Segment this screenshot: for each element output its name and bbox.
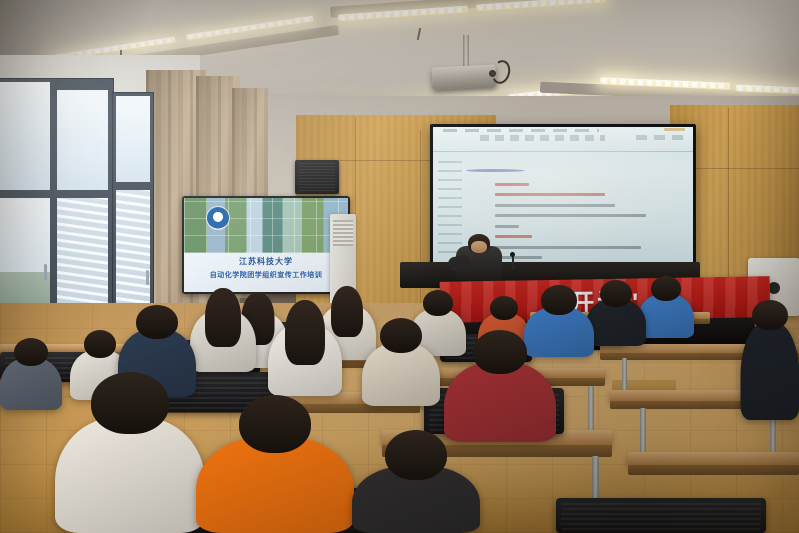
document-ribbon [433, 127, 693, 152]
audience-member-head [239, 395, 311, 453]
window-mullion [0, 190, 110, 197]
window-louver [116, 190, 150, 316]
audience-member [196, 395, 354, 533]
window-pane [116, 190, 150, 316]
audience-member-head [600, 280, 632, 307]
audience-member [586, 280, 646, 346]
document-text-line [495, 193, 604, 196]
desk-microphone-stand [512, 256, 514, 270]
window-left-outer [0, 78, 114, 324]
campus-photo-strip [184, 198, 348, 253]
audience-member-head [541, 285, 577, 315]
audience-member-head [285, 300, 325, 365]
audience-member [352, 430, 480, 533]
window-handle[interactable] [146, 270, 149, 285]
window-sky [0, 82, 50, 192]
audience-member [444, 330, 556, 442]
audience-member [0, 338, 62, 410]
audience-member [190, 288, 256, 372]
window-handle[interactable] [44, 264, 47, 280]
document-text-line [495, 256, 542, 259]
display-title-sub: 自动化学院团学组织宣传工作培训 [184, 270, 348, 280]
audience-member-torso [740, 322, 799, 420]
window-pane [116, 96, 150, 184]
document-text-line [495, 204, 615, 207]
document-heading-line [467, 169, 524, 172]
desk-edge [628, 465, 799, 475]
window-louver [56, 198, 108, 314]
ac-vent-grille [333, 220, 353, 246]
wall-speaker [295, 160, 339, 194]
window-pane [0, 82, 50, 192]
document-text-line [495, 183, 529, 186]
audience-member-head [651, 276, 681, 301]
ribbon-action-button [664, 128, 685, 131]
audience-member-head [136, 305, 178, 339]
window-sky [56, 90, 108, 192]
ribbon-right-tools [636, 135, 683, 140]
ceiling-projector [431, 64, 496, 89]
wall-display-screen: 江苏科技大学 自动化学院团学组织宣传工作培训 [184, 198, 348, 292]
window-pane [0, 198, 50, 318]
audience-member-head [752, 300, 788, 330]
ribbon-toolbar [480, 135, 605, 141]
document-text-line [495, 235, 531, 238]
audience-member [740, 300, 799, 420]
audience-member [55, 372, 205, 533]
window-sky [116, 96, 150, 184]
audience-member-head [91, 372, 169, 434]
document-text-line [495, 246, 641, 249]
audience-member-head [385, 430, 447, 480]
audience-member-head [380, 318, 422, 353]
audience-member-head [84, 330, 116, 358]
audience-member [268, 300, 342, 396]
document-text-line [495, 225, 518, 228]
presenter-face [471, 241, 487, 253]
window-right-narrow [112, 92, 154, 324]
audience-member [638, 276, 694, 338]
document-outline-pane [438, 160, 461, 253]
window-pane [56, 198, 108, 314]
audience-member-head [473, 330, 527, 374]
desk-microphone-icon [510, 252, 515, 257]
chair-back [556, 498, 766, 533]
audience-member-head [490, 296, 518, 320]
audience-member-torso [55, 417, 205, 533]
audience-member-head [423, 290, 453, 316]
audience-member-head [205, 288, 241, 347]
display-title-main: 江苏科技大学 [184, 256, 348, 267]
wall-display[interactable]: 江苏科技大学 自动化学院团学组织宣传工作培训 [182, 196, 350, 294]
projector-mount-pole [463, 35, 469, 69]
student-desk [628, 452, 799, 466]
ribbon-tab-row [443, 129, 599, 132]
classroom-scene: 江苏科技大学 自动化学院团学组织宣传工作培训 [0, 0, 799, 533]
window-mullion [114, 182, 152, 189]
audience-member-head [14, 338, 48, 366]
ceiling-hanger [417, 28, 421, 40]
document-text-line [495, 214, 646, 217]
window-mullion [50, 80, 57, 320]
audience-member [362, 318, 440, 406]
window-pane [56, 90, 108, 192]
